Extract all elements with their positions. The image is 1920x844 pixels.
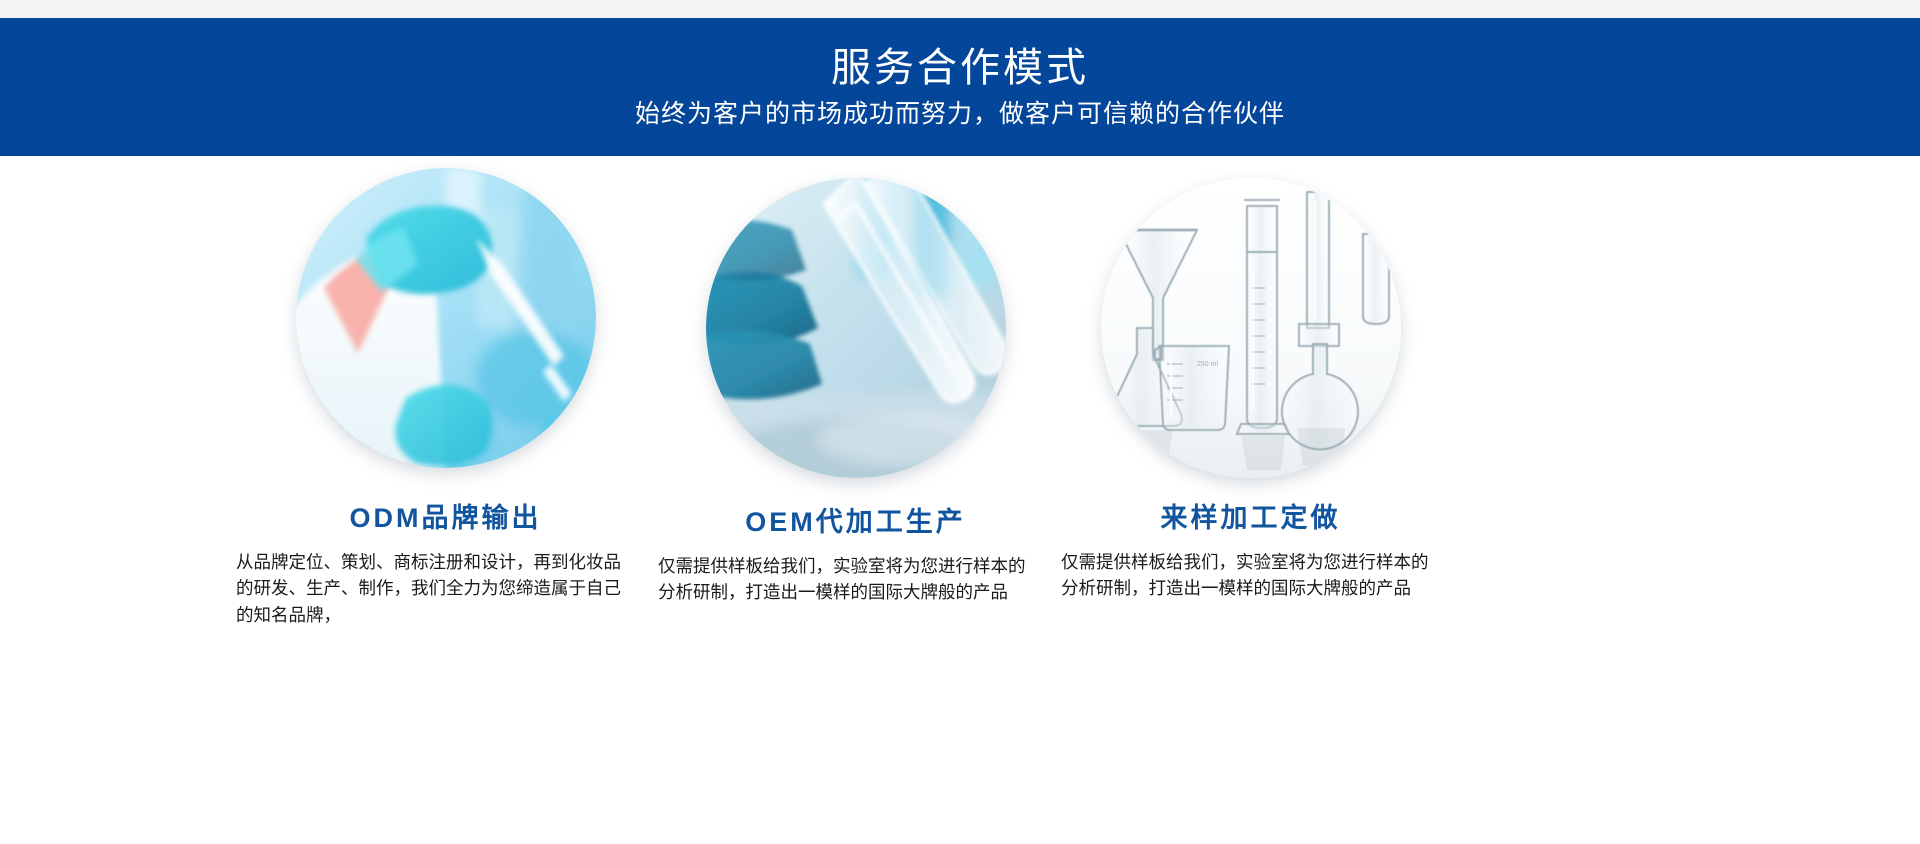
card-title-odm: ODM品牌输出 (258, 496, 633, 535)
card-image-circle (706, 178, 1006, 478)
test-tubes-gloved-hand-photo (706, 178, 1006, 478)
top-strip (0, 0, 1920, 18)
card-title-oem: OEM代加工生产 (668, 500, 1043, 539)
page-subtitle: 始终为客户的市场成功而努力，做客户可信赖的合作伙伴 (635, 99, 1285, 129)
card-body-custom: 仅需提供样板给我们，实验室将为您进行样本的分析研制，打造出一模样的国际大牌般的产… (1061, 549, 1431, 602)
card-body-oem: 仅需提供样板给我们，实验室将为您进行样本的分析研制，打造出一模样的国际大牌般的产… (658, 553, 1028, 606)
service-card-custom[interactable]: 250 ml (1063, 156, 1438, 844)
service-cards-container: ODM品牌输出 从品牌定位、策划、商标注册和设计，再到化妆品的研发、生产、制作，… (0, 156, 1920, 844)
card-title-custom: 来样加工定做 (1063, 496, 1438, 535)
card-image-circle (296, 168, 596, 468)
card-body-text: 从品牌定位、策划、商标注册和设计，再到化妆品的研发、生产、制作，我们全力为您缔造… (236, 549, 631, 628)
card-body-odm: 从品牌定位、策划、商标注册和设计，再到化妆品的研发、生产、制作，我们全力为您缔造… (236, 549, 631, 628)
service-card-oem[interactable]: OEM代加工生产 仅需提供样板给我们，实验室将为您进行样本的分析研制，打造出一模… (668, 156, 1043, 844)
lab-scientist-pipette-photo (296, 168, 596, 468)
service-cooperation-page: 服务合作模式 始终为客户的市场成功而努力，做客户可信赖的合作伙伴 (0, 0, 1920, 844)
page-header-band: 服务合作模式 始终为客户的市场成功而努力，做客户可信赖的合作伙伴 (0, 18, 1920, 156)
laboratory-glassware-photo: 250 ml (1101, 178, 1401, 478)
page-title: 服务合作模式 (831, 45, 1089, 91)
card-body-text: 仅需提供样板给我们，实验室将为您进行样本的分析研制，打造出一模样的国际大牌般的产… (1061, 549, 1431, 602)
service-card-odm[interactable]: ODM品牌输出 从品牌定位、策划、商标注册和设计，再到化妆品的研发、生产、制作，… (258, 156, 633, 844)
card-body-text: 仅需提供样板给我们，实验室将为您进行样本的分析研制，打造出一模样的国际大牌般的产… (658, 553, 1028, 606)
card-image-circle: 250 ml (1101, 178, 1401, 478)
